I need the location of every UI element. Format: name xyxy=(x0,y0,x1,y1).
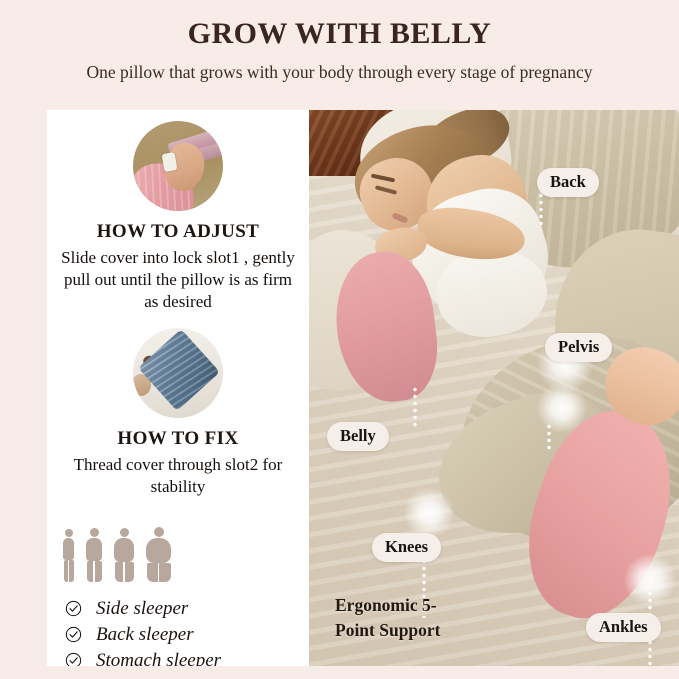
silhouette-head xyxy=(120,528,129,537)
checklist-label: Side sleeper xyxy=(96,599,188,618)
body-size-progression xyxy=(47,498,309,582)
list-item: Side sleeper xyxy=(65,596,309,622)
connector-back xyxy=(539,192,543,228)
check-circle-icon xyxy=(65,652,82,666)
how-to-adjust-block: HOW TO ADJUST Slide cover into lock slot… xyxy=(47,110,309,312)
silhouette-legs xyxy=(115,562,134,582)
body-silhouette-4 xyxy=(146,527,171,582)
ergonomic-support-caption: Ergonomic 5- Point Support xyxy=(335,593,465,642)
callout-pelvis[interactable]: Pelvis xyxy=(545,333,612,362)
how-to-fix-title: HOW TO FIX xyxy=(47,428,309,450)
hand-adjusting-pink-cover-photo xyxy=(133,121,223,211)
list-item: Back sleeper xyxy=(65,622,309,648)
check-circle-icon xyxy=(65,600,82,617)
body-silhouette-3 xyxy=(114,528,134,582)
callout-belly[interactable]: Belly xyxy=(327,422,389,451)
checklist-label: Back sleeper xyxy=(96,625,194,644)
silhouette-head xyxy=(90,528,99,537)
list-item: Stomach sleeper xyxy=(65,648,309,666)
page-subtitle: One pillow that grows with your body thr… xyxy=(0,50,679,83)
callout-knees[interactable]: Knees xyxy=(372,533,441,562)
body-silhouette-1 xyxy=(63,529,74,582)
how-to-adjust-title: HOW TO ADJUST xyxy=(47,221,309,243)
silhouette-legs xyxy=(87,561,102,582)
pregnancy-pillow-lifestyle-photo: Back Pelvis Belly Knees Ankles Ergonomic… xyxy=(309,110,679,666)
instructions-panel: HOW TO ADJUST Slide cover into lock slot… xyxy=(47,110,309,666)
silhouette-head xyxy=(154,527,164,537)
how-to-fix-body: Thread cover through slot2 for stability xyxy=(57,454,299,498)
silhouette-torso xyxy=(86,538,102,561)
body-silhouette-2 xyxy=(86,528,102,582)
silhouette-legs xyxy=(64,560,74,582)
check-circle-icon xyxy=(65,626,82,643)
silhouette-torso xyxy=(114,538,134,562)
connector-pelvis xyxy=(547,423,551,451)
blue-fabric-shape xyxy=(138,329,220,411)
silhouette-torso xyxy=(146,538,171,563)
page-header: GROW WITH BELLY One pillow that grows wi… xyxy=(0,0,679,110)
how-to-fix-block: HOW TO FIX Thread cover through slot2 fo… xyxy=(47,312,309,498)
sleeper-type-checklist: Side sleeper Back sleeper Stomach sleepe… xyxy=(47,582,309,666)
silhouette-torso xyxy=(63,538,74,560)
how-to-adjust-body: Slide cover into lock slot1 , gently pul… xyxy=(57,247,299,312)
callout-back[interactable]: Back xyxy=(537,168,599,197)
checklist-label: Stomach sleeper xyxy=(96,651,221,666)
silhouette-head xyxy=(65,529,73,537)
folded-blue-cover-photo xyxy=(133,328,223,418)
silhouette-legs xyxy=(147,563,171,582)
page-title: GROW WITH BELLY xyxy=(0,0,679,50)
callout-ankles[interactable]: Ankles xyxy=(586,613,661,642)
content-card: HOW TO ADJUST Slide cover into lock slot… xyxy=(47,110,679,666)
connector-belly xyxy=(413,386,417,428)
